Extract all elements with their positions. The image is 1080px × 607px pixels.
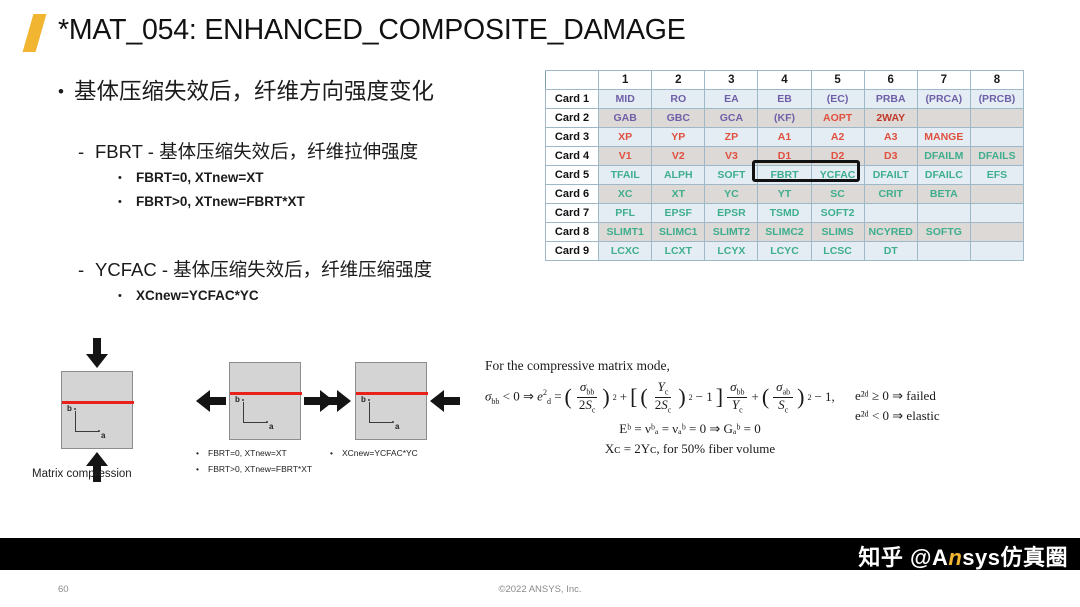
table-cell-empty — [970, 128, 1023, 147]
table-row: Card 9LCXCLCXTLCYXLCYCLCSCDT — [546, 242, 1024, 261]
row-header-2: Card 2 — [546, 109, 599, 128]
bullet-level1: •基体压缩失效后，纤维方向强度变化 — [58, 74, 434, 106]
arrow-down-icon — [84, 338, 110, 373]
bullet-content: •基体压缩失效后，纤维方向强度变化 -FBRT - 基体压缩失效后，纤维拉伸强度… — [0, 66, 545, 336]
table-cell-empty — [917, 109, 970, 128]
cell-label: EPSF — [665, 207, 692, 219]
table-cell-slimc2: SLIMC2 — [758, 223, 811, 242]
cell-label: EFS — [987, 169, 1007, 181]
diagram-bullet-mid-1: •FBRT=0, XTnew=XT — [196, 448, 287, 458]
table-cell-dfailm: DFAILM — [917, 147, 970, 166]
table-cell-empty — [970, 223, 1023, 242]
formula-intro: For the compressive matrix mode, — [485, 358, 1005, 374]
specimen-block: b a — [61, 371, 133, 449]
cell-label: FBRT — [770, 169, 798, 181]
table-cell-soft2: SOFT2 — [811, 204, 864, 223]
title-accent-slash-icon — [23, 14, 47, 52]
table-cell-xp: XP — [599, 128, 652, 147]
specimen-block: b a — [355, 362, 427, 440]
column-header: 6 — [864, 71, 917, 90]
cell-label: SLIMT1 — [606, 226, 643, 238]
cell-label: AOPT — [823, 112, 852, 124]
formula-line-xc: Xᴄ = 2Yᴄ, for 50% fiber volume — [485, 441, 1005, 457]
axis-b-dot-icon — [368, 399, 370, 401]
column-header: 7 — [917, 71, 970, 90]
table-cell-alph: ALPH — [652, 166, 705, 185]
table-corner-cell — [546, 71, 599, 90]
table-cell-mange: MANGE — [917, 128, 970, 147]
specimen-block: b a — [229, 362, 301, 440]
cell-label: LCSC — [823, 245, 852, 257]
bullet-fbrt-sub2: •FBRT>0, XTnew=FBRT*XT — [118, 194, 305, 209]
watermark-suffix: sys仿真圈 — [962, 545, 1068, 570]
table-cell-2way: 2WAY — [864, 109, 917, 128]
bullet-dot-icon: • — [330, 448, 342, 458]
table-cell-v2: V2 — [652, 147, 705, 166]
table-row: Card 2GABGBCGCA(KF)AOPT2WAY — [546, 109, 1024, 128]
cell-label: A3 — [884, 131, 897, 143]
table-cell-pfl: PFL — [599, 204, 652, 223]
table-cell-a2: A2 — [811, 128, 864, 147]
cell-label: XP — [618, 131, 632, 143]
table-cell-mid: MID — [599, 90, 652, 109]
cell-label: ALPH — [664, 169, 693, 181]
cell-label: SLIMT2 — [713, 226, 750, 238]
cell-label: DFAILC — [925, 169, 963, 181]
table-cell-yp: YP — [652, 128, 705, 147]
cell-label: EPSR — [717, 207, 746, 219]
cell-label: CRIT — [878, 188, 903, 200]
cell-label: D3 — [884, 150, 897, 162]
cell-label: TFAIL — [611, 169, 640, 181]
table-header-row: 1 2 3 4 5 6 7 8 — [546, 71, 1024, 90]
cell-label: GBC — [667, 112, 690, 124]
table-cell-dfailc: DFAILC — [917, 166, 970, 185]
cell-label: LCXC — [611, 245, 640, 257]
diagram-caption-1: Matrix compression — [32, 468, 132, 480]
bullet-fbrt-heading: -FBRT - 基体压缩失效后，纤维拉伸强度 — [78, 138, 418, 164]
table-cell-soft: SOFT — [705, 166, 758, 185]
table-cell-fbrt-highlighted: FBRT — [758, 166, 811, 185]
axis-a-dot-icon — [392, 421, 394, 423]
table-cell-gab: GAB — [599, 109, 652, 128]
bullet-dot-icon: • — [118, 172, 136, 184]
condition-elastic: e²ᵈ < 0 ⇒ elastic — [855, 406, 940, 426]
row-header-3: Card 3 — [546, 128, 599, 147]
table-cell-ycfac-highlighted: YCFAC — [811, 166, 864, 185]
table-cell-slimt1: SLIMT1 — [599, 223, 652, 242]
table-cell-v1: V1 — [599, 147, 652, 166]
cell-label: SOFTG — [926, 226, 962, 238]
table-cell-yc: YC — [705, 185, 758, 204]
cell-label: SLIMS — [822, 226, 854, 238]
copyright-notice: ©2022 ANSYS, Inc. — [0, 584, 1080, 595]
cell-label: NCYRED — [869, 226, 913, 238]
bullet-dot-icon: • — [196, 448, 208, 458]
condition-failed: e²ᵈ ≥ 0 ⇒ failed — [855, 386, 940, 406]
diagram-group: b a Matrix compression b a •FBRT=0, XTne… — [0, 330, 470, 500]
table-cell-lcxt: LCXT — [652, 242, 705, 261]
row-header-9: Card 9 — [546, 242, 599, 261]
cell-label: BETA — [930, 188, 958, 200]
cell-label: LCYC — [770, 245, 799, 257]
table-cell-a1: A1 — [758, 128, 811, 147]
cell-label: SLIMC2 — [765, 226, 804, 238]
axis-horizontal — [243, 422, 267, 423]
bullet-dot-icon: • — [58, 82, 74, 102]
table-row: Card 3XPYPZPA1A2A3MANGE — [546, 128, 1024, 147]
table-cell-slimc1: SLIMC1 — [652, 223, 705, 242]
cell-label: V1 — [619, 150, 632, 162]
bullet-ycfac-sub1: •XCnew=YCFAC*YC — [118, 288, 259, 303]
card-table: 1 2 3 4 5 6 7 8 Card 1MIDROEAEB(EC)PRBA(… — [545, 70, 1024, 261]
cell-label: ZP — [725, 131, 738, 143]
table-cell-aopt: AOPT — [811, 109, 864, 128]
cell-label: PRBA — [876, 93, 906, 105]
table-row: Card 6XCXTYCYTSCCRITBETA — [546, 185, 1024, 204]
table-cell-sc: SC — [811, 185, 864, 204]
table-cell-ncyred: NCYRED — [864, 223, 917, 242]
cell-label: LCXT — [665, 245, 692, 257]
axis-label-a: a — [269, 422, 273, 431]
table-cell-lcyc: LCYC — [758, 242, 811, 261]
cell-label: V2 — [672, 150, 685, 162]
crack-line — [230, 392, 302, 395]
diagram-bullet-mid-2: •FBRT>0, XTnew=FBRT*XT — [196, 464, 312, 474]
table-cell-empty — [970, 109, 1023, 128]
table-cell-d3: D3 — [864, 147, 917, 166]
table-row: Card 5TFAILALPHSOFTFBRTYCFACDFAILTDFAILC… — [546, 166, 1024, 185]
row-header-8: Card 8 — [546, 223, 599, 242]
axis-b-dot-icon — [74, 408, 76, 410]
cell-label: EA — [724, 93, 739, 105]
page-title: *MAT_054: ENHANCED_COMPOSITE_DAMAGE — [58, 14, 686, 47]
table-cell-epsf: EPSF — [652, 204, 705, 223]
column-header: 4 — [758, 71, 811, 90]
table-cell-eb: EB — [758, 90, 811, 109]
bullet-dot-icon: • — [118, 290, 136, 302]
table-cell-gbc: GBC — [652, 109, 705, 128]
crack-line — [356, 392, 428, 395]
cell-label: YT — [778, 188, 791, 200]
table-cell-tfail: TFAIL — [599, 166, 652, 185]
keyword-card-table: 1 2 3 4 5 6 7 8 Card 1MIDROEAEB(EC)PRBA(… — [545, 70, 1024, 261]
axis-vertical — [243, 402, 244, 422]
cell-label: XC — [618, 188, 633, 200]
cell-label: TSMD — [770, 207, 800, 219]
formula-conditions: e²ᵈ ≥ 0 ⇒ failed e²ᵈ < 0 ⇒ elastic — [855, 386, 940, 426]
table-cell-d2: D2 — [811, 147, 864, 166]
watermark-prefix: 知乎 @A — [858, 545, 948, 570]
dash-icon: - — [78, 141, 95, 163]
cell-label: 2WAY — [876, 112, 905, 124]
cell-label: SOFT — [717, 169, 745, 181]
dash-icon: - — [78, 259, 95, 281]
axis-vertical — [369, 402, 370, 422]
table-cell-empty — [970, 185, 1023, 204]
table-cell-crit: CRIT — [864, 185, 917, 204]
table-cell-d1: D1 — [758, 147, 811, 166]
table-cell-lcsc: LCSC — [811, 242, 864, 261]
table-cell-zp: ZP — [705, 128, 758, 147]
table-cell-ro: RO — [652, 90, 705, 109]
cell-label: D1 — [778, 150, 791, 162]
table-cell-(prca): (PRCA) — [917, 90, 970, 109]
cell-label: DFAILS — [978, 150, 1015, 162]
cell-label: A1 — [778, 131, 791, 143]
column-header: 3 — [705, 71, 758, 90]
cell-label: YCFAC — [820, 169, 856, 181]
row-header-5: Card 5 — [546, 166, 599, 185]
ansys-logo-icon: n — [948, 545, 962, 571]
table-row: Card 7PFLEPSFEPSRTSMDSOFT2 — [546, 204, 1024, 223]
slide-header: *MAT_054: ENHANCED_COMPOSITE_DAMAGE — [0, 0, 1080, 66]
table-cell-a3: A3 — [864, 128, 917, 147]
table-cell-(kf): (KF) — [758, 109, 811, 128]
row-header-1: Card 1 — [546, 90, 599, 109]
axis-label-b: b — [361, 395, 366, 404]
table-cell-yt: YT — [758, 185, 811, 204]
table-row: Card 8SLIMT1SLIMC1SLIMT2SLIMC2SLIMSNCYRE… — [546, 223, 1024, 242]
table-cell-dt: DT — [864, 242, 917, 261]
table-cell-prba: PRBA — [864, 90, 917, 109]
cell-label: V3 — [725, 150, 738, 162]
table-cell-softg: SOFTG — [917, 223, 970, 242]
axis-horizontal — [75, 431, 99, 432]
diagram-bullet-right-1: •XCnew=YCFAC*YC — [330, 448, 418, 458]
arrow-left-icon — [430, 388, 460, 419]
column-header: 2 — [652, 71, 705, 90]
table-cell-(prcb): (PRCB) — [970, 90, 1023, 109]
table-cell-ea: EA — [705, 90, 758, 109]
table-cell-epsr: EPSR — [705, 204, 758, 223]
table-row: Card 1MIDROEAEB(EC)PRBA(PRCA)(PRCB) — [546, 90, 1024, 109]
table-cell-slims: SLIMS — [811, 223, 864, 242]
cell-label: GAB — [613, 112, 636, 124]
cell-label: (PRCA) — [925, 93, 962, 105]
row-header-7: Card 7 — [546, 204, 599, 223]
row-header-4: Card 4 — [546, 147, 599, 166]
cell-label: DT — [884, 245, 898, 257]
table-cell-efs: EFS — [970, 166, 1023, 185]
column-header: 5 — [811, 71, 864, 90]
table-cell-tsmd: TSMD — [758, 204, 811, 223]
cell-label: PFL — [615, 207, 635, 219]
table-cell-dfailt: DFAILT — [864, 166, 917, 185]
axis-vertical — [75, 411, 76, 431]
table-cell-xt: XT — [652, 185, 705, 204]
cell-label: DFAILT — [873, 169, 909, 181]
cell-label: RO — [670, 93, 686, 105]
cell-label: SOFT2 — [821, 207, 855, 219]
bullet-ycfac-heading: -YCFAC - 基体压缩失效后，纤维压缩强度 — [78, 256, 432, 282]
cell-label: D2 — [831, 150, 844, 162]
cell-label: SLIMC1 — [659, 226, 698, 238]
arrow-right-icon — [321, 388, 351, 419]
table-cell-gca: GCA — [705, 109, 758, 128]
cell-label: LCYX — [717, 245, 745, 257]
table-cell-slimt2: SLIMT2 — [705, 223, 758, 242]
cell-label: (KF) — [774, 112, 795, 124]
axis-a-dot-icon — [98, 430, 100, 432]
table-cell-empty — [970, 242, 1023, 261]
table-cell-beta: BETA — [917, 185, 970, 204]
cell-label: YC — [724, 188, 739, 200]
table-cell-empty — [917, 242, 970, 261]
cell-label: SC — [830, 188, 845, 200]
table-cell-lcyx: LCYX — [705, 242, 758, 261]
axis-label-a: a — [101, 431, 105, 440]
row-header-6: Card 6 — [546, 185, 599, 204]
cell-label: A2 — [831, 131, 844, 143]
axis-label-b: b — [235, 395, 240, 404]
table-body: Card 1MIDROEAEB(EC)PRBA(PRCA)(PRCB)Card … — [546, 90, 1024, 261]
watermark: 知乎 @Ansys仿真圈 — [858, 540, 1068, 572]
cell-label: MANGE — [924, 131, 963, 143]
bullet-dot-icon: • — [118, 196, 136, 208]
table-cell-empty — [970, 204, 1023, 223]
table-cell-dfails: DFAILS — [970, 147, 1023, 166]
table-cell-lcxc: LCXC — [599, 242, 652, 261]
cell-label: DFAILM — [924, 150, 963, 162]
column-header: 1 — [599, 71, 652, 90]
arrow-left-icon — [196, 388, 226, 419]
axis-label-a: a — [395, 422, 399, 431]
cell-label: (PRCB) — [979, 93, 1016, 105]
table-cell-empty — [864, 204, 917, 223]
axis-b-dot-icon — [242, 399, 244, 401]
bullet-fbrt-sub1: •FBRT=0, XTnew=XT — [118, 170, 264, 185]
cell-label: MID — [616, 93, 635, 105]
cell-label: YP — [671, 131, 685, 143]
bullet-dot-icon: • — [196, 464, 208, 474]
table-cell-empty — [917, 204, 970, 223]
cell-label: XT — [672, 188, 685, 200]
axis-a-dot-icon — [266, 421, 268, 423]
axis-label-b: b — [67, 404, 72, 413]
crack-line — [62, 401, 134, 404]
table-cell-v3: V3 — [705, 147, 758, 166]
axis-horizontal — [369, 422, 393, 423]
cell-label: GCA — [720, 112, 743, 124]
table-cell-xc: XC — [599, 185, 652, 204]
cell-label: (EC) — [827, 93, 849, 105]
table-cell-(ec): (EC) — [811, 90, 864, 109]
table-row: Card 4V1V2V3D1D2D3DFAILMDFAILS — [546, 147, 1024, 166]
column-header: 8 — [970, 71, 1023, 90]
cell-label: EB — [777, 93, 792, 105]
